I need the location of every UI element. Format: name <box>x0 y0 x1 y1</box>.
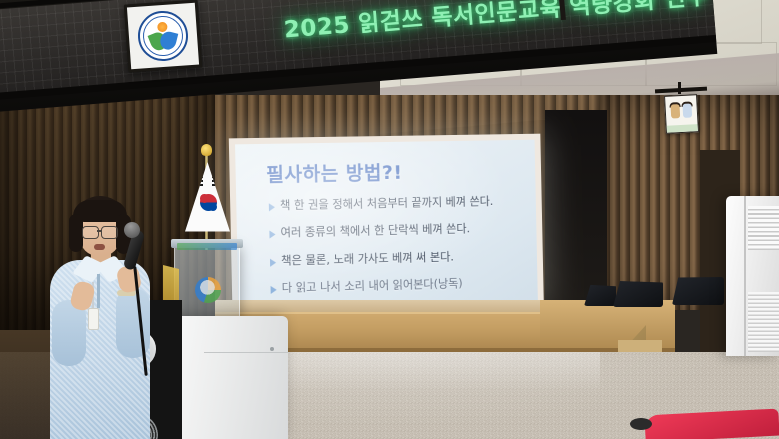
slide-bullet-item: 책은 물론, 노래 가사도 베껴 써 본다. <box>270 250 523 268</box>
screen-side-wall <box>545 110 607 300</box>
poster-child-right-icon <box>682 103 692 117</box>
bullet-triangle-icon <box>271 286 277 294</box>
speaker-dress-placket <box>97 274 100 308</box>
lectern-logo-icon <box>195 277 221 303</box>
eyeglasses-lens-left-icon <box>82 226 99 239</box>
emblem-icon <box>136 9 189 62</box>
bullet-triangle-icon <box>270 258 276 266</box>
slide-bullet-item: 다 읽고 나서 소리 내어 읽어본다(낭독) <box>270 277 523 296</box>
poster-child-left-icon <box>670 104 680 118</box>
bullet-text: 책 한 권을 정해서 처음부터 끝까지 베껴 쓴다. <box>280 196 494 212</box>
ac-panel-edge <box>744 196 746 356</box>
acrylic-lectern <box>174 244 240 322</box>
flag-trigram-bar <box>192 176 203 178</box>
flag-trigram-bar <box>212 176 223 178</box>
bullet-triangle-icon <box>269 203 275 211</box>
speaker-hair-side-left <box>69 214 83 252</box>
eyeglasses-bridge-icon <box>97 230 101 232</box>
south-korea-flag <box>176 148 238 253</box>
auditorium-photo: 2025 읽걷쓰 독서인문교육 역량강화 연수 필사하는 방법?! 책 한 권을… <box>0 0 779 439</box>
podium-panel-seam <box>204 352 288 353</box>
bullet-text: 다 읽고 나서 소리 내어 읽어본다(낭독) <box>282 278 463 295</box>
name-badge <box>88 308 99 330</box>
slide-bullet-list: 책 한 권을 정해서 처음부터 끝까지 베껴 쓴다. 여러 종류의 책에서 한 … <box>269 195 524 310</box>
slide-title: 필사하는 방법?! <box>266 158 403 187</box>
flag-trigram-bar <box>192 184 203 186</box>
speaker-mouth <box>94 244 105 250</box>
bullet-triangle-icon <box>269 231 275 239</box>
bullet-text: 책은 물론, 노래 가사도 베껴 써 본다. <box>281 251 454 267</box>
stage-monitor-speaker <box>613 281 663 307</box>
podium-screw-icon <box>270 347 274 351</box>
floor-cap-object <box>630 418 652 430</box>
flag-trigram-bar <box>192 180 203 182</box>
projection-screen: 필사하는 방법?! 책 한 권을 정해서 처음부터 끝까지 베껴 쓴다. 여러 … <box>229 134 544 319</box>
female-speaker <box>44 196 156 439</box>
flag-trigram-bar <box>212 180 223 182</box>
stage-monitor-speaker <box>672 277 724 305</box>
bullet-text: 여러 종류의 책에서 한 단락씩 베껴 쓴다. <box>280 224 470 240</box>
slide-bullet-item: 책 한 권을 정해서 처음부터 끝까지 베껴 쓴다. <box>269 195 522 212</box>
floor-standing-air-conditioner <box>726 196 779 356</box>
cartoon-children-poster <box>664 94 699 134</box>
ac-vent-bottom <box>748 292 779 352</box>
lectern-label-band <box>177 243 237 250</box>
flag-taeguk-icon <box>200 194 217 211</box>
ac-vent-top <box>748 206 779 250</box>
institution-emblem-sign <box>124 0 203 72</box>
poster-mount-stem <box>678 82 681 94</box>
flag-finial-icon <box>201 144 212 156</box>
poster-caption-band <box>667 124 698 133</box>
projected-slide: 필사하는 방법?! 책 한 권을 정해서 처음부터 끝까지 베껴 쓴다. 여러 … <box>235 140 538 312</box>
eyeglasses-lens-right-icon <box>101 226 118 239</box>
flag-trigram-bar <box>212 184 223 186</box>
slide-bullet-item: 여러 종류의 책에서 한 단락씩 베껴 쓴다. <box>269 222 522 240</box>
